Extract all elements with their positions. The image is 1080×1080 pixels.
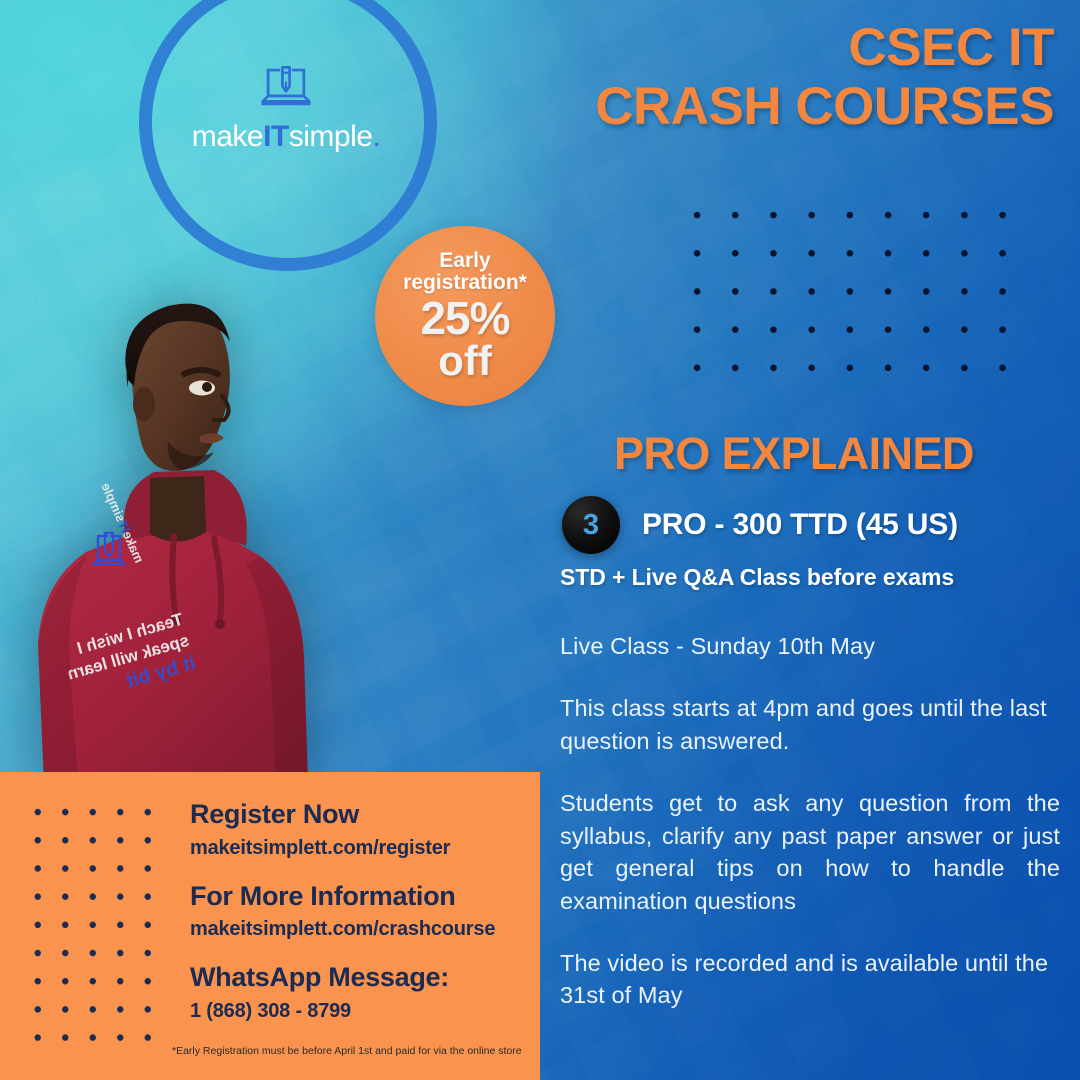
- logo-text-make: make: [192, 120, 263, 153]
- info-heading: For More Information: [190, 882, 540, 912]
- register-group: Register Now makeitsimplett.com/register: [190, 800, 540, 860]
- pro-tier-row: 3 PRO - 300 TTD (45 US): [562, 496, 958, 554]
- logo-text-simple: simple: [289, 120, 373, 153]
- discount-off-label: off: [438, 340, 492, 382]
- detail-paragraph-3: The video is recorded and is available u…: [560, 947, 1060, 1012]
- whatsapp-group: WhatsApp Message: 1 (868) 308 - 8799: [190, 963, 540, 1023]
- register-heading: Register Now: [190, 800, 540, 830]
- early-badge-label: Early registration*: [403, 250, 527, 295]
- brand-logo: makeITsimple.: [186, 62, 386, 152]
- info-url[interactable]: makeitsimplett.com/crashcourse: [190, 918, 540, 941]
- discount-percent: 25%: [420, 296, 509, 340]
- pro-section-title: PRO EXPLAINED: [614, 428, 974, 480]
- logo-text-it: IT: [263, 120, 289, 153]
- register-url[interactable]: makeitsimplett.com/register: [190, 837, 540, 860]
- detail-paragraph-2: Students get to ask any question from th…: [560, 787, 1060, 917]
- early-badge-line-2: registration*: [403, 271, 527, 294]
- tier-number-badge: 3: [562, 496, 620, 554]
- footnote-text: *Early Registration must be before April…: [172, 1045, 540, 1057]
- whatsapp-heading: WhatsApp Message:: [190, 963, 540, 993]
- more-info-group: For More Information makeitsimplett.com/…: [190, 882, 540, 942]
- contact-details: Register Now makeitsimplett.com/register…: [190, 800, 540, 1057]
- laptop-pencil-icon: [257, 62, 315, 112]
- headline-line-2: CRASH COURSES: [595, 77, 1054, 136]
- detail-paragraph-1: This class starts at 4pm and goes until …: [560, 692, 1060, 757]
- course-details: Live Class - Sunday 10th May This class …: [560, 630, 1060, 1012]
- early-registration-badge: Early registration* 25% off: [375, 226, 555, 406]
- headline-line-1: CSEC IT: [595, 18, 1054, 77]
- promo-poster: makeITsimple.: [0, 0, 1080, 1080]
- dot-grid-decoration: [678, 196, 1026, 394]
- tier-price-label: PRO - 300 TTD (45 US): [642, 508, 958, 542]
- live-class-line: Live Class - Sunday 10th May: [560, 630, 1060, 662]
- contact-footer-panel: Register Now makeitsimplett.com/register…: [0, 772, 540, 1080]
- whatsapp-number[interactable]: 1 (868) 308 - 8799: [190, 1000, 540, 1023]
- logo-wordmark: makeITsimple.: [186, 122, 386, 152]
- presenter-photo: Teach I wish I speak will learn it by bi…: [8, 264, 348, 784]
- logo-text-dot: .: [372, 120, 380, 153]
- page-title: CSEC IT CRASH COURSES: [595, 18, 1054, 137]
- footer-dot-grid-decoration: [24, 798, 161, 1053]
- tier-subtitle: STD + Live Q&A Class before exams: [560, 564, 954, 591]
- early-badge-line-1: Early: [439, 249, 490, 272]
